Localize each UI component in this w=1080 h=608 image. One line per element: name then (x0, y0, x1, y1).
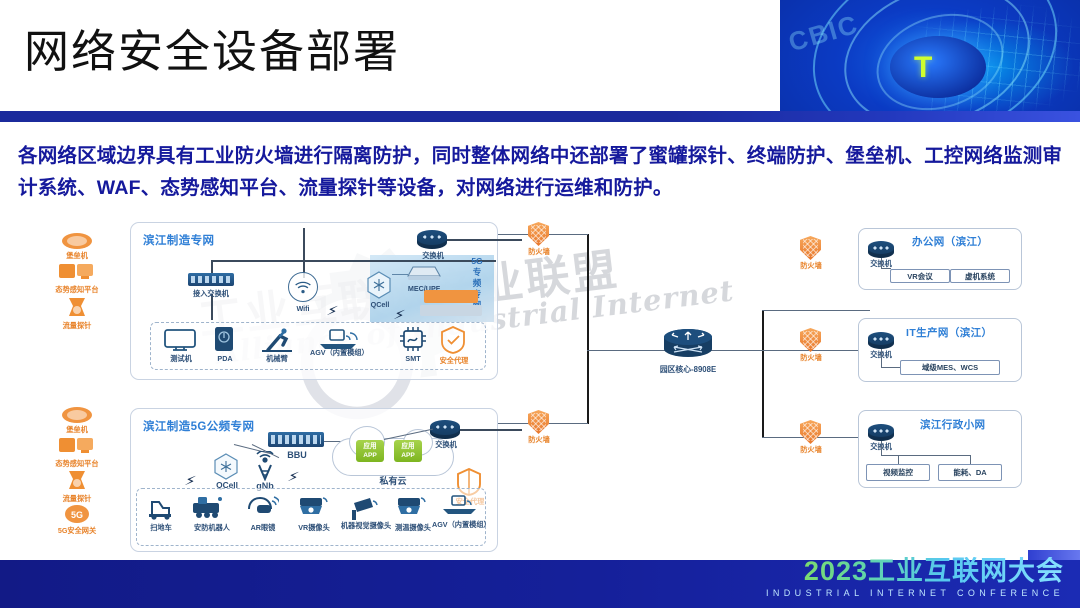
manufacturing-device-label-1: PDA (211, 354, 239, 363)
right-panel-admin-title: 滨江行政小网 (920, 417, 985, 432)
panel-5g-title: 滨江制造5G公频专网 (143, 418, 254, 434)
firewall-shield-icon (528, 410, 549, 434)
core-router-icon (662, 328, 714, 362)
switch-label: 交换机 (410, 251, 456, 260)
pda-icon (214, 326, 234, 352)
machine-vision-camera-icon (348, 493, 380, 521)
office-item-0: VR会议 (890, 269, 950, 283)
bbu-icon (268, 432, 324, 447)
manufacturing-device-label-4: SMT (398, 354, 428, 363)
network-topology-diagram: 工业互联网产业联盟 Alliance of Industrial Interne… (0, 210, 1080, 550)
connector (881, 441, 882, 455)
manufacturing-device-label-3: AGV（内置模组） (310, 348, 368, 357)
5g-device-label-1: 安防机器人 (184, 523, 240, 532)
connector (762, 310, 870, 311)
switch-label: 交换机 (424, 440, 468, 449)
manufacturing-device-label-0: 测试机 (160, 354, 202, 363)
firewall-shield-icon (800, 236, 821, 260)
core-router-label: 园区核心-8908E (648, 365, 728, 374)
switch-icon (868, 241, 894, 258)
firewall-shield-icon (800, 420, 821, 444)
switch-icon (868, 332, 894, 349)
chip-icon (398, 326, 428, 352)
panel-manufacturing-title: 滨江制造专网 (143, 232, 214, 248)
app-box-1-line1: 应用 (363, 442, 376, 451)
qcell-icon (366, 271, 392, 299)
connector (392, 274, 408, 275)
agv-icon (440, 493, 480, 519)
slide-root: CBIC T 网络安全设备部署 各网络区域边界具有工业防火墙进行隔离防护，同时整… (0, 0, 1080, 608)
app-box-2-line2: APP (401, 451, 415, 460)
firewall-label: 防火墙 (790, 445, 832, 454)
connector (881, 455, 970, 456)
conference-logo-title: 2023工业互联网大会 (766, 557, 1064, 586)
sweeper-icon (145, 494, 175, 520)
security-robot-icon (190, 493, 226, 521)
wifi-icon (288, 272, 318, 302)
wifi-label: Wifi (283, 304, 323, 313)
connector (303, 228, 305, 260)
conference-logo-subtitle: INDUSTRIAL INTERNET CONFERENCE (766, 586, 1064, 600)
connector (881, 268, 891, 269)
traffic-probe-icon (64, 296, 90, 320)
right-panel-office-title: 办公网（滨江） (912, 234, 988, 249)
situational-awareness-icon (58, 435, 96, 457)
5g-device-label-2: AR眼镜 (243, 523, 283, 532)
5g-device-label-4: 机器视觉摄像头 (338, 521, 394, 530)
security-stack-top-label-1: 态势感知平台 (44, 285, 110, 294)
admin-item-0: 视频监控 (866, 464, 930, 481)
access-switch-label: 接入交换机 (176, 289, 246, 298)
connector (898, 455, 899, 464)
security-stack-bottom-label-2: 流量探针 (48, 494, 106, 503)
right-panel-it-title: IT生产网（滨江） (906, 325, 992, 340)
traffic-probe-icon (64, 469, 90, 493)
decor-logo-letter: T (914, 54, 962, 84)
monitor-icon (163, 328, 197, 352)
switch-icon (868, 424, 894, 441)
firewall-label: 防火墙 (790, 353, 832, 362)
firewall-label: 防火墙 (518, 435, 560, 444)
manufacturing-orange-bar (424, 290, 478, 303)
svg-text:5G: 5G (71, 510, 83, 520)
conference-logo: 2023工业互联网大会 INDUSTRIAL INTERNET CONFEREN… (766, 557, 1064, 600)
left-backbone-line (587, 234, 589, 424)
connector (211, 260, 496, 262)
security-stack-top-label-0: 堡垒机 (52, 251, 102, 260)
bbu-label: BBU (276, 451, 318, 460)
firewall-shield-icon (528, 222, 549, 246)
bastion-host-icon (60, 232, 94, 250)
title-divider (0, 111, 1080, 122)
5g-device-label-6: AGV（内置模组） (432, 520, 488, 529)
it-item-0: 域级MES、WCS (900, 360, 1000, 375)
body-paragraph: 各网络区域边界具有工业防火墙进行隔离防护，同时整体网络中还部署了蜜罐探针、终端防… (18, 140, 1064, 204)
thermal-camera-icon (394, 494, 428, 520)
right-backbone-line (762, 310, 764, 438)
firewall-shield-icon (800, 328, 821, 352)
manufacturing-gray-bar (420, 305, 482, 316)
connector (710, 350, 870, 351)
admin-item-1: 能耗、DA (938, 464, 1002, 481)
ar-glasses-icon (245, 493, 279, 521)
connector (970, 455, 971, 464)
firewall-label: 防火墙 (790, 261, 832, 270)
situational-awareness-icon (58, 261, 96, 283)
app-box-2: 应用 APP (394, 440, 422, 462)
vr-camera-icon (296, 494, 330, 520)
connector (881, 349, 882, 367)
private-cloud-label: 私有云 (364, 477, 422, 486)
app-box-2-line1: 应用 (401, 442, 414, 451)
app-box-1: 应用 APP (356, 440, 384, 462)
app-box-1-line2: APP (363, 451, 377, 460)
connector (881, 367, 900, 368)
security-stack-bottom-label-1: 态势感知平台 (44, 459, 110, 468)
security-stack-bottom-label-0: 堡垒机 (52, 425, 102, 434)
security-stack-bottom-label-3: 5G安全网关 (46, 526, 108, 535)
qcell-label: QCell (360, 300, 400, 309)
switch-icon (430, 420, 460, 439)
security-stack-top-label-2: 流量探针 (48, 321, 106, 330)
switch-icon (417, 230, 447, 249)
office-item-1: 虚机系统 (950, 269, 1010, 283)
5g-security-gateway-icon: 5G (64, 504, 90, 524)
mec-upf-icon (404, 262, 444, 284)
manufacturing-device-label-5: 安全代理 (434, 356, 474, 365)
5g-device-label-0: 扫地车 (140, 523, 182, 532)
security-agent-icon (440, 326, 466, 354)
5g-device-label-3: VR摄像头 (292, 523, 336, 532)
5g-device-label-5: 测温摄像头 (390, 523, 436, 532)
qcell-icon (213, 453, 239, 480)
connector (460, 429, 522, 431)
connector (447, 239, 522, 241)
manufacturing-device-label-2: 机械臂 (256, 354, 298, 363)
gnb-tower-icon (250, 451, 280, 481)
connector (587, 350, 667, 351)
page-title: 网络安全设备部署 (24, 24, 400, 80)
header-decoration-graphic: CBIC T (780, 0, 1080, 122)
access-switch-icon (188, 273, 234, 286)
bastion-host-icon (60, 406, 94, 424)
robot-arm-icon (258, 327, 296, 353)
firewall-label: 防火墙 (518, 247, 560, 256)
